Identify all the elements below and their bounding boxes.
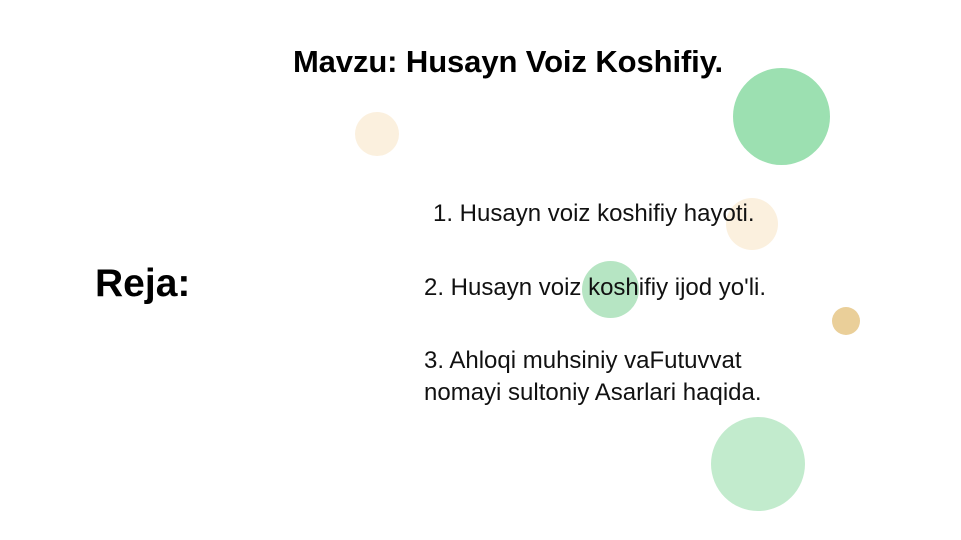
plan-list-item: 3. Ahloqi muhsiniy vaFutuvvat nomayi sul…	[424, 345, 894, 408]
slide-text-layer: Mavzu: Husayn Voiz Koshifiy. Reja: 1. Hu…	[0, 0, 961, 540]
section-label-reja: Reja:	[95, 262, 190, 306]
plan-list-item: 2. Husayn voiz koshifiy ijod yo'li.	[424, 272, 894, 304]
plan-list-item: 1. Husayn voiz koshifiy hayoti.	[424, 198, 894, 230]
slide-title: Mavzu: Husayn Voiz Koshifiy.	[0, 44, 961, 80]
plan-list: 1. Husayn voiz koshifiy hayoti. 2. Husay…	[424, 198, 894, 409]
presentation-slide: Mavzu: Husayn Voiz Koshifiy. Reja: 1. Hu…	[0, 0, 961, 540]
